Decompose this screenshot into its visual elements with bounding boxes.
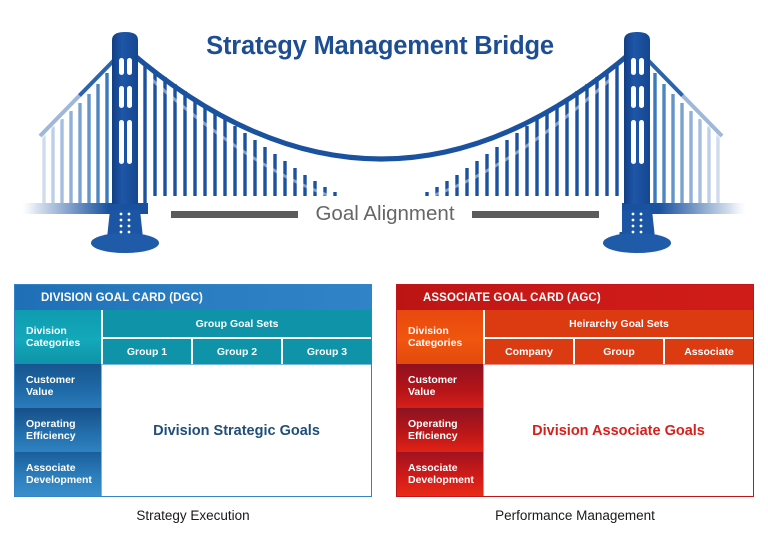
page-title: Strategy Management Bridge bbox=[180, 32, 580, 61]
suspender-cables-main-span bbox=[135, 56, 627, 207]
category-column-header: Division Categories bbox=[15, 310, 101, 364]
left-edge-fade bbox=[0, 0, 96, 272]
division-category-column: Division Categories Customer Value Opera… bbox=[15, 310, 101, 496]
bridge-illustration-area: Strategy Management Bridge Goal Alignmen… bbox=[0, 0, 768, 272]
group-goal-sets-title: Group Goal Sets bbox=[101, 310, 371, 337]
goal-set-column-company[interactable]: Company bbox=[485, 339, 573, 364]
right-edge-fade bbox=[666, 0, 768, 272]
goal-set-column-associate[interactable]: Associate bbox=[663, 339, 753, 364]
caption-strategy-execution: Strategy Execution bbox=[14, 508, 372, 523]
category-operating-efficiency[interactable]: Operating Efficiency bbox=[397, 408, 483, 452]
goal-set-column-group[interactable]: Group bbox=[573, 339, 663, 364]
category-customer-value[interactable]: Customer Value bbox=[397, 364, 483, 408]
associate-category-column: Division Categories Customer Value Opera… bbox=[397, 310, 483, 496]
category-column-header: Division Categories bbox=[397, 310, 483, 364]
hierarchy-goal-sets-column: Heirarchy Goal Sets Company Group Associ… bbox=[483, 310, 753, 496]
goal-alignment-bar-left bbox=[171, 211, 298, 218]
category-associate-development[interactable]: Associate Development bbox=[15, 452, 101, 496]
associate-goal-card[interactable]: ASSOCIATE GOAL CARD (AGC) Division Categ… bbox=[396, 284, 754, 497]
goal-set-column-group-2[interactable]: Group 2 bbox=[191, 339, 281, 364]
goal-alignment-bar-right bbox=[472, 211, 599, 218]
goal-alignment-label: Goal Alignment bbox=[298, 204, 471, 225]
goal-set-column-group-1[interactable]: Group 1 bbox=[103, 339, 191, 364]
goal-set-column-group-3[interactable]: Group 3 bbox=[281, 339, 371, 364]
hierarchy-goal-sets-title: Heirarchy Goal Sets bbox=[483, 310, 753, 337]
category-customer-value[interactable]: Customer Value bbox=[15, 364, 101, 408]
group-goal-sets-subheader-row: Group 1 Group 2 Group 3 bbox=[101, 337, 371, 364]
division-associate-goals-area[interactable]: Division Associate Goals bbox=[483, 364, 753, 496]
division-goal-card-title: DIVISION GOAL CARD (DGC) bbox=[15, 285, 371, 310]
division-goal-card-body: Division Categories Customer Value Opera… bbox=[15, 310, 371, 496]
goal-cards-row: DIVISION GOAL CARD (DGC) Division Catego… bbox=[0, 284, 768, 500]
goal-alignment-band: Goal Alignment bbox=[150, 198, 620, 230]
caption-performance-management: Performance Management bbox=[396, 508, 754, 523]
category-operating-efficiency[interactable]: Operating Efficiency bbox=[15, 408, 101, 452]
category-associate-development[interactable]: Associate Development bbox=[397, 452, 483, 496]
division-goal-sets-column: Group Goal Sets Group 1 Group 2 Group 3 … bbox=[101, 310, 371, 496]
division-goal-card[interactable]: DIVISION GOAL CARD (DGC) Division Catego… bbox=[14, 284, 372, 497]
hierarchy-goal-sets-subheader-row: Company Group Associate bbox=[483, 337, 753, 364]
associate-goal-card-body: Division Categories Customer Value Opera… bbox=[397, 310, 753, 496]
division-strategic-goals-area[interactable]: Division Strategic Goals bbox=[101, 364, 371, 496]
associate-goal-card-title: ASSOCIATE GOAL CARD (AGC) bbox=[397, 285, 753, 310]
